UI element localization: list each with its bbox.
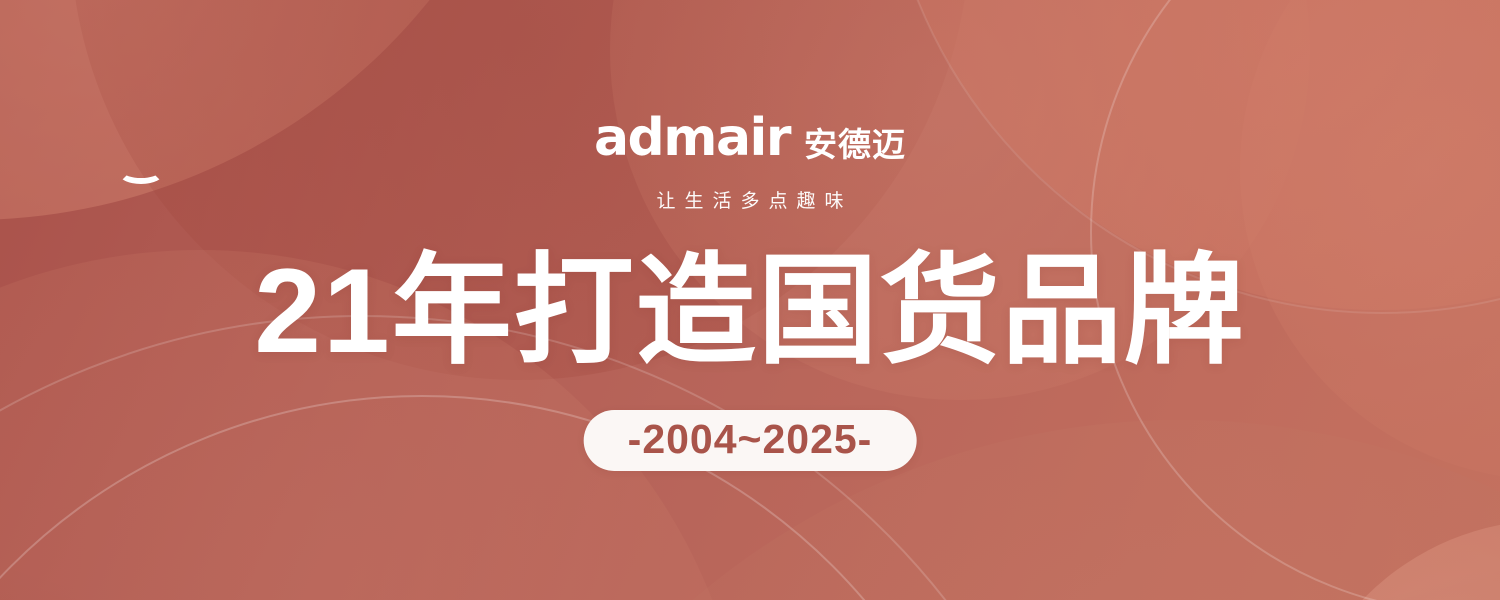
brand-logo: admair 安德迈 [0,108,1500,164]
year-range-badge: -2004~2025- [584,410,917,471]
brand-chinese-name: 安德迈 [804,128,906,164]
smile-arc-icon [118,161,164,184]
page-title: 21年打造国货品牌 [0,248,1500,375]
brand-anniversary-banner: admair 安德迈 让生活多点趣味 21年打造国货品牌 -2004~2025- [0,0,1500,600]
brand-tagline: 让生活多点趣味 [0,186,1500,213]
banner-content: admair 安德迈 让生活多点趣味 21年打造国货品牌 -2004~2025- [0,0,1500,600]
brand-wordmark: admair [594,112,790,164]
